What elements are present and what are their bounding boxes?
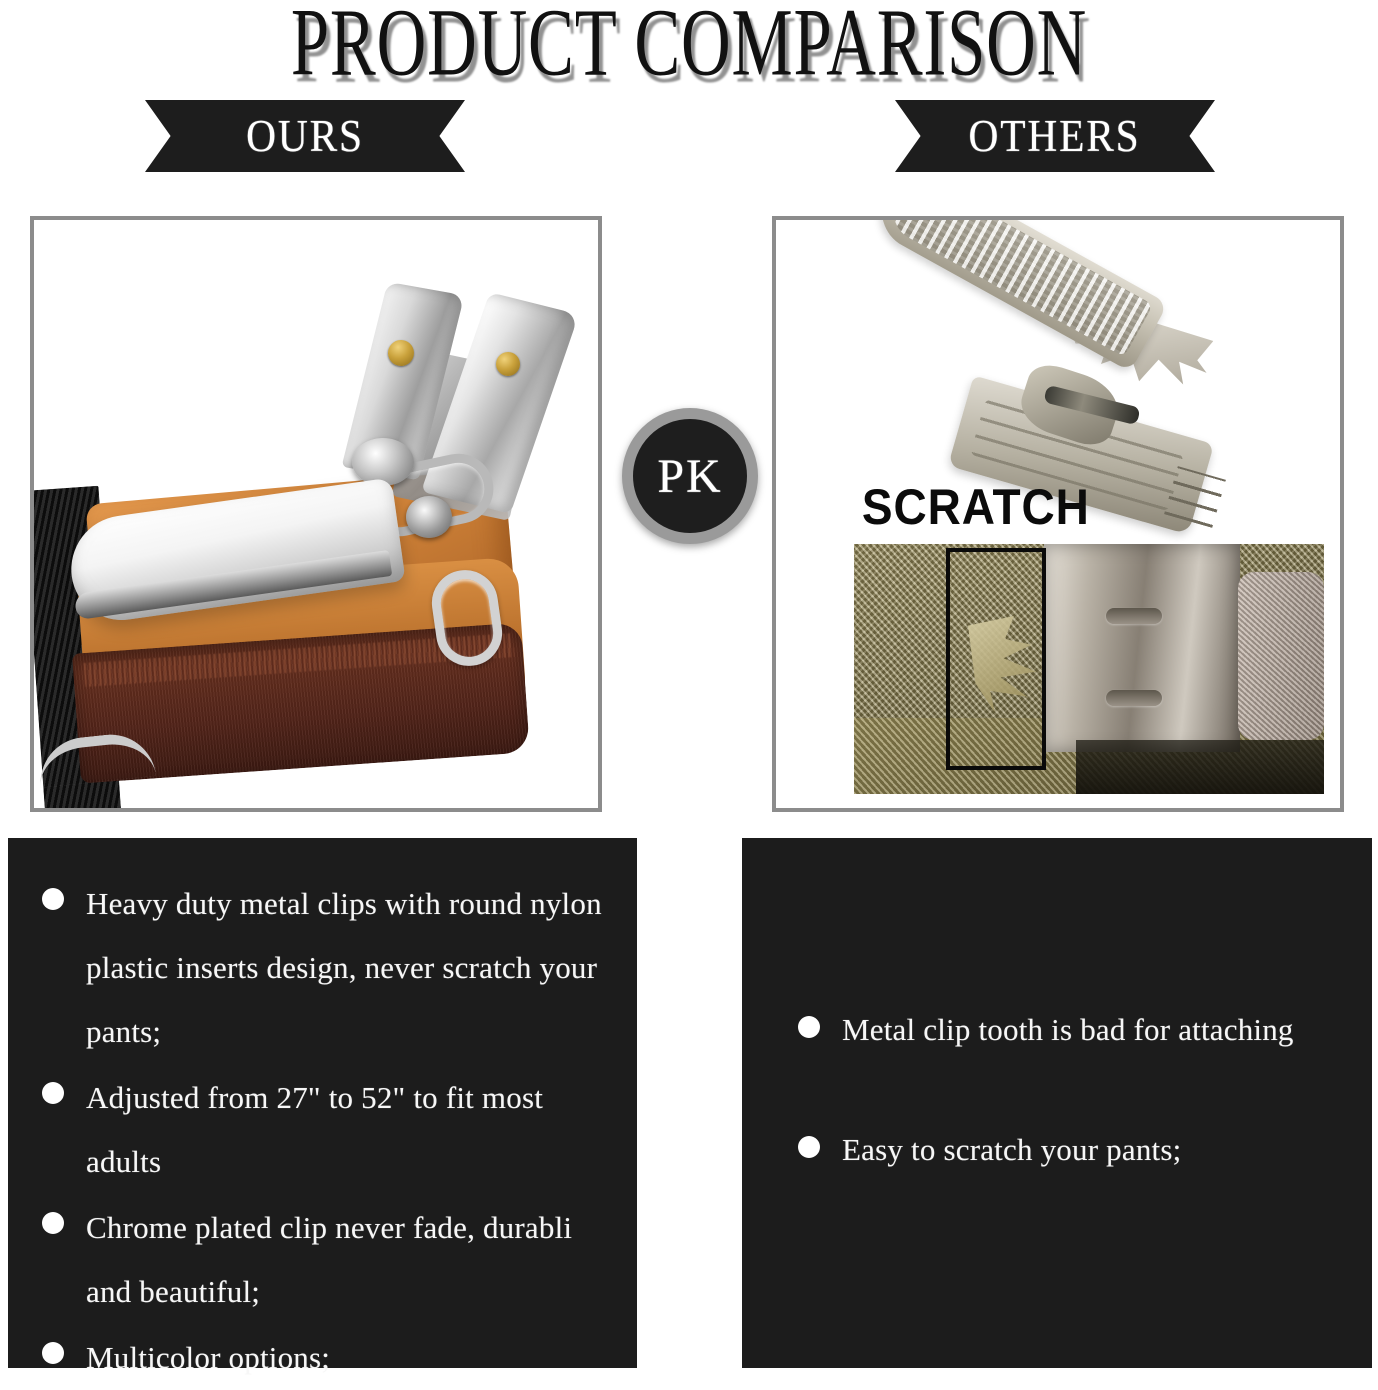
scratch-highlight-box [946, 548, 1046, 770]
feature-text: Heavy duty metal clips with round nylon … [86, 872, 607, 1064]
page-title: PRODUCT COMPARISON [138, 0, 1240, 90]
list-item: Metal clip tooth is bad for attaching [764, 994, 1342, 1066]
feature-list-ours: Heavy duty metal clips with round nylon … [30, 872, 607, 1390]
product-photo-others: SCRATCH [772, 216, 1344, 812]
feature-text: Chrome plated clip never fade, durabli a… [86, 1196, 607, 1324]
feature-text: Adjusted from 27" to 52" to fit most adu… [86, 1066, 607, 1194]
fabric-clip-slot-lower [1106, 690, 1162, 706]
fabric-bottom-shadow [1076, 740, 1324, 794]
banner-others: OTHERS [895, 100, 1215, 172]
scratch-caption: SCRATCH [862, 478, 1090, 536]
fabric-clip-roller [1238, 572, 1324, 740]
fabric-metal-clip [1044, 544, 1240, 752]
list-item: Chrome plated clip never fade, durabli a… [30, 1196, 607, 1324]
fabric-clip-slot-upper [1106, 608, 1162, 624]
feature-text: Easy to scratch your pants; [842, 1114, 1181, 1186]
banner-ours: OURS [145, 100, 465, 172]
banner-ours-label: OURS [246, 110, 364, 162]
bullet-dot-icon [798, 1016, 820, 1038]
ours-photo-stage [34, 220, 598, 808]
bullet-dot-icon [42, 1212, 64, 1234]
brass-rivet-right [496, 352, 520, 376]
clip-hinge-pin [406, 496, 452, 538]
feature-text: Metal clip tooth is bad for attaching [842, 994, 1294, 1066]
list-item: Heavy duty metal clips with round nylon … [30, 872, 607, 1064]
bullet-dot-icon [42, 888, 64, 910]
versus-badge-label: PK [657, 449, 722, 504]
feature-list-others: Metal clip tooth is bad for attaching Ea… [764, 994, 1342, 1246]
features-panel-ours: Heavy duty metal clips with round nylon … [8, 838, 637, 1368]
bullet-dot-icon [798, 1136, 820, 1158]
clip-hinge-knuckle [352, 438, 414, 486]
banner-others-label: OTHERS [969, 110, 1141, 162]
others-photo-stage: SCRATCH [776, 220, 1340, 808]
competitor-clip-ridges [883, 216, 1153, 357]
feature-text: Multicolor options; [86, 1326, 330, 1390]
bullet-dot-icon [42, 1342, 64, 1364]
list-item: Adjusted from 27" to 52" to fit most adu… [30, 1066, 607, 1194]
list-item: Multicolor options; [30, 1326, 607, 1390]
versus-badge: PK [622, 408, 758, 544]
bullet-dot-icon [42, 1082, 64, 1104]
list-item: Easy to scratch your pants; [764, 1114, 1342, 1186]
product-photo-ours [30, 216, 602, 812]
features-panel-others: Metal clip tooth is bad for attaching Ea… [742, 838, 1372, 1368]
